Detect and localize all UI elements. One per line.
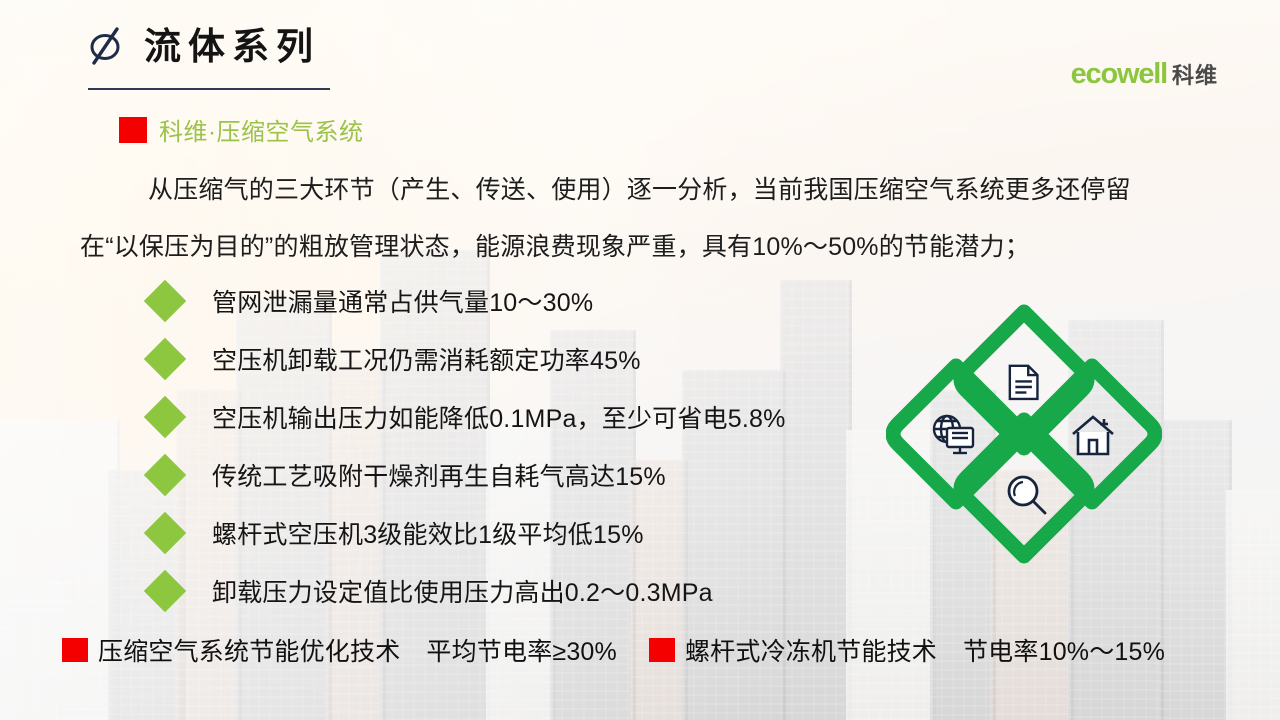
document-icon: [1010, 366, 1038, 399]
footer-item-label: 螺杆式冷冻机节能技术: [685, 632, 937, 668]
list-item: 空压机输出压力如能降低0.1MPa，至少可省电5.8%: [150, 388, 786, 446]
red-square-marker-icon: [649, 638, 675, 662]
slide-header: 流体系列 ecowell 科维: [0, 0, 1280, 104]
green-diamond-bullet-icon: [144, 512, 186, 554]
paragraph-line-2: 在“以保压为目的”的粗放管理状态，能源浪费现象严重，具有10%～50%的节能潜力…: [80, 219, 1220, 276]
list-item: 卸载压力设定值比使用压力高出0.2～0.3MPa: [150, 562, 786, 620]
list-item-label: 空压机输出压力如能降低0.1MPa，至少可省电5.8%: [212, 399, 786, 435]
list-item-label: 管网泄漏量通常占供气量10～30%: [212, 283, 593, 319]
slide-canvas: 流体系列 ecowell 科维 科维·压缩空气系统 从压缩气的三大环节（产生、传…: [0, 0, 1280, 720]
bullet-list: 管网泄漏量通常占供气量10～30% 空压机卸载工况仍需消耗额定功率45% 空压机…: [150, 272, 786, 620]
list-item-label: 卸载压力设定值比使用压力高出0.2～0.3MPa: [212, 573, 713, 609]
title-underline: [88, 88, 330, 90]
footer-item-1: 压缩空气系统节能优化技术 平均节电率≥30%: [62, 632, 617, 668]
green-diamond-bullet-icon: [144, 454, 186, 496]
list-item: 传统工艺吸附干燥剂再生自耗气高达15%: [150, 446, 786, 504]
list-item-label: 螺杆式空压机3级能效比1级平均低15%: [212, 515, 644, 551]
list-item: 螺杆式空压机3级能效比1级平均低15%: [150, 504, 786, 562]
green-diamond-bullet-icon: [144, 280, 186, 322]
intro-paragraph: 从压缩气的三大环节（产生、传送、使用）逐一分析，当前我国压缩空气系统更多还停留 …: [80, 162, 1220, 276]
home-icon: [1073, 417, 1113, 454]
list-item: 空压机卸载工况仍需消耗额定功率45%: [150, 330, 786, 388]
logo-chinese-name: 科维: [1172, 65, 1218, 87]
paragraph-line-1: 从压缩气的三大环节（产生、传送、使用）逐一分析，当前我国压缩空气系统更多还停留: [80, 162, 1220, 219]
footer-item-2: 螺杆式冷冻机节能技术 节电率10%～15%: [649, 632, 1165, 668]
logo-wordmark: ecowell: [1071, 60, 1167, 89]
list-item-label: 空压机卸载工况仍需消耗额定功率45%: [212, 341, 641, 377]
list-item-label: 传统工艺吸附干燥剂再生自耗气高达15%: [212, 457, 666, 493]
green-diamond-bullet-icon: [144, 570, 186, 612]
list-item: 管网泄漏量通常占供气量10～30%: [150, 272, 786, 330]
magnifier-icon: [1009, 477, 1045, 513]
green-clover-diamonds-graphic: [886, 296, 1162, 572]
globe-monitor-icon: [934, 416, 973, 453]
footer-item-value: 平均节电率≥30%: [426, 632, 617, 668]
title-row: 流体系列: [88, 26, 320, 66]
phi-slashed-circle-icon: [88, 26, 122, 66]
page-title: 流体系列: [144, 28, 320, 65]
footer-highlights: 压缩空气系统节能优化技术 平均节电率≥30% 螺杆式冷冻机节能技术 节电率10%…: [0, 632, 1280, 668]
green-diamond-bullet-icon: [144, 396, 186, 438]
section-heading: 科维·压缩空气系统: [119, 112, 364, 147]
red-square-marker-icon: [62, 638, 88, 662]
footer-item-value: 节电率10%～15%: [963, 632, 1165, 668]
footer-item-label: 压缩空气系统节能优化技术: [98, 632, 400, 668]
green-diamond-bullet-icon: [144, 338, 186, 380]
brand-logo: ecowell 科维: [1071, 60, 1218, 89]
red-square-marker-icon: [119, 117, 147, 143]
section-heading-label: 科维·压缩空气系统: [159, 112, 364, 147]
